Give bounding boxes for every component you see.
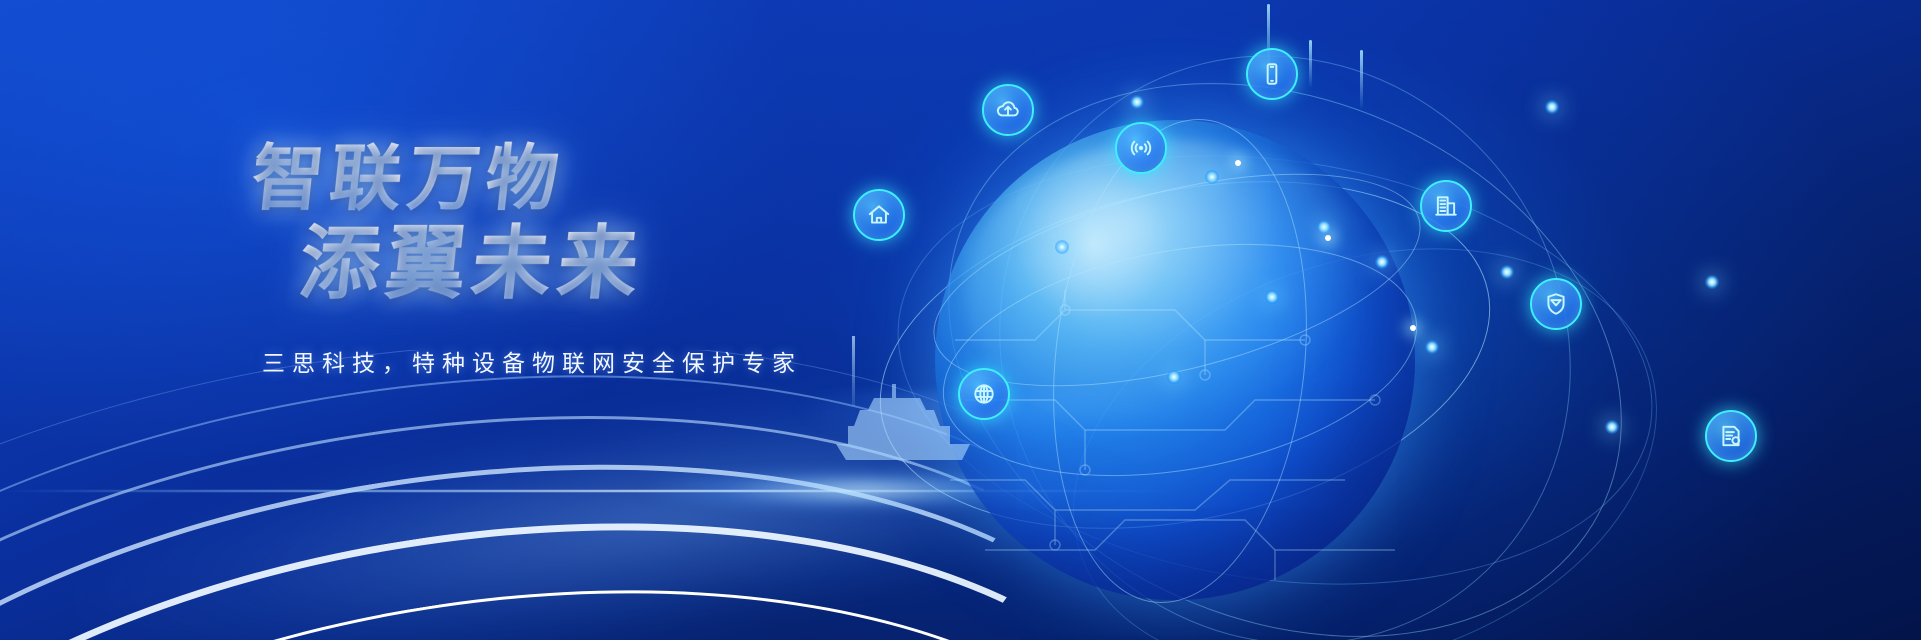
network-node-dot: [1500, 265, 1514, 279]
network-node-dot: [1130, 95, 1144, 109]
light-sparkle: [1410, 325, 1416, 331]
mobile-phone-glyph: [1259, 61, 1285, 87]
headline-line-1: 智联万物: [248, 140, 896, 218]
network-node-dot: [1205, 170, 1219, 184]
cloud-upload-icon[interactable]: [982, 84, 1034, 136]
network-node-dot: [1425, 340, 1439, 354]
shield-icon[interactable]: [1530, 278, 1582, 330]
wifi-signal-icon[interactable]: [1115, 122, 1167, 174]
network-node-dot: [1545, 100, 1559, 114]
light-sparkle: [1235, 160, 1241, 166]
banner-subtitle: 三思科技，特种设备物联网安全保护专家: [262, 344, 892, 378]
network-node-dot: [1705, 275, 1719, 289]
network-node-dot: [1375, 255, 1389, 269]
network-node-dot: [1317, 220, 1331, 234]
circuit-trace-pattern: [945, 280, 1415, 610]
document-report-icon[interactable]: [1705, 410, 1757, 462]
wifi-signal-glyph: [1128, 135, 1154, 161]
building-glyph: [1433, 193, 1459, 219]
building-icon[interactable]: [1420, 180, 1472, 232]
shield-glyph: [1543, 291, 1569, 317]
banner-copy: 智联万物 添翼未来 三思科技，特种设备物联网安全保护专家: [252, 140, 892, 378]
dotted-accent: [1360, 50, 1363, 110]
globe-network-glyph: [971, 381, 997, 407]
iot-network-graphic: [905, 40, 1921, 640]
mobile-phone-icon[interactable]: [1246, 48, 1298, 100]
globe-network-icon[interactable]: [958, 368, 1010, 420]
network-node-dot: [1167, 370, 1181, 384]
network-node-dot: [1605, 420, 1619, 434]
hero-banner: 智联万物 添翼未来 三思科技，特种设备物联网安全保护专家: [0, 0, 1921, 640]
cloud-upload-glyph: [995, 97, 1021, 123]
document-report-glyph: [1718, 423, 1744, 449]
light-sparkle: [1325, 235, 1331, 241]
network-node-dot: [1055, 240, 1069, 254]
dotted-accent: [1309, 40, 1312, 88]
headline-line-2: 添翼未来: [295, 218, 897, 310]
network-node-dot: [1265, 290, 1279, 304]
